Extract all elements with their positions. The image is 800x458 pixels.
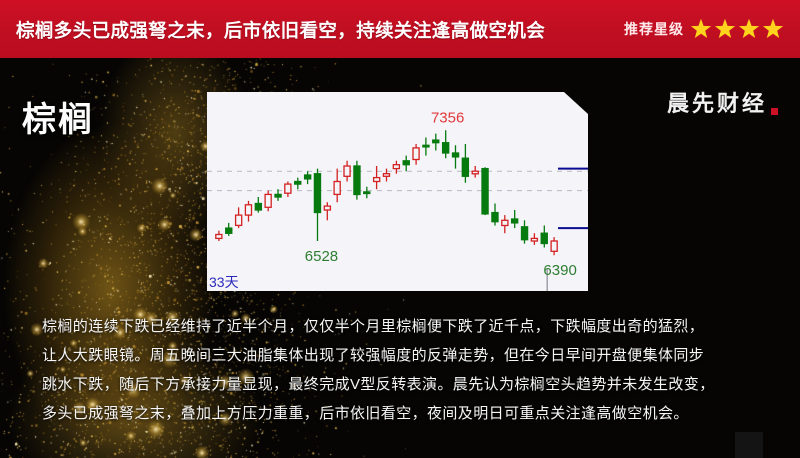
candlestick	[295, 178, 301, 190]
candlestick	[512, 210, 518, 228]
candlestick-chart: 73566528639033天	[207, 92, 588, 291]
candlestick	[433, 134, 439, 151]
analysis-line: 棕榈的连续下跌已经维持了近半个月，仅仅半个月里棕榈便下跌了近千点，下跌幅度出奇的…	[42, 316, 768, 337]
candlestick	[393, 161, 399, 174]
chart-annotation: 6528	[305, 248, 338, 265]
star-rating	[690, 18, 784, 40]
chart-annotation: 33天	[209, 274, 239, 290]
star-icon	[714, 18, 736, 40]
candlestick	[255, 197, 261, 213]
rating-label: 推荐星级	[624, 19, 684, 39]
candlestick	[423, 138, 429, 156]
brand-logo: 晨先财经	[667, 86, 778, 118]
chart-annotation: 6390	[543, 262, 576, 279]
brand-dot-icon	[771, 108, 778, 115]
candlestick	[364, 187, 370, 199]
candlestick	[305, 171, 311, 184]
candlestick	[344, 161, 350, 182]
star-icon	[690, 18, 712, 40]
candlestick	[443, 130, 449, 158]
candlestick	[226, 223, 232, 236]
candlestick	[324, 202, 330, 220]
analysis-line: 让人大跌眼镜。周五晚间三大油脂集体出现了较强幅度的反弹走势，但在今日早间开盘便集…	[42, 345, 768, 366]
poster-canvas: 棕榈多头已成强弩之末，后市依旧看空，持续关注逢高做空机会 推荐星级 棕榈 晨先财…	[0, 0, 800, 458]
product-name: 棕榈	[22, 92, 94, 141]
candlestick	[472, 166, 478, 178]
candlestick	[453, 145, 459, 168]
candlestick	[413, 144, 419, 165]
rating-group: 推荐星级	[624, 18, 784, 40]
candlestick	[502, 215, 508, 233]
analysis-text: 棕榈的连续下跌已经维持了近半个月，仅仅半个月里棕榈便下跌了近千点，下跌幅度出奇的…	[42, 316, 768, 432]
candlestick	[403, 156, 409, 172]
candlestick	[245, 201, 251, 222]
analysis-line: 多头已成强弩之末，叠加上方压力重重，后市依旧看空，夜间及明日可重点关注逢高做空机…	[42, 403, 768, 424]
header-bar: 棕榈多头已成强弩之末，后市依旧看空，持续关注逢高做空机会 推荐星级	[0, 0, 800, 58]
candlestick	[236, 207, 242, 228]
candlestick	[551, 237, 557, 255]
candlestick	[541, 226, 547, 248]
candlestick	[374, 166, 380, 189]
brand-name: 晨先财经	[667, 86, 767, 118]
candlestick	[216, 231, 222, 241]
candlestick	[354, 161, 360, 200]
candlestick	[383, 169, 389, 182]
chart-annotation: 7356	[431, 109, 464, 126]
candlestick	[462, 144, 468, 183]
footer-accent-block	[735, 432, 763, 458]
candlestick	[265, 191, 271, 212]
candlestick-chart-panel[interactable]: 73566528639033天	[207, 92, 588, 291]
candlestick	[492, 204, 498, 226]
star-icon	[762, 18, 784, 40]
candlestick	[314, 169, 320, 241]
candlestick	[482, 167, 488, 215]
candlestick	[531, 233, 537, 245]
analysis-line: 跳水下跌，随后下方承接力量显现，最终完成V型反转表演。晨先认为棕榈空头趋势并未发…	[42, 374, 768, 395]
page-title: 棕榈多头已成强弩之末，后市依旧看空，持续关注逢高做空机会	[16, 17, 545, 43]
candlestick	[285, 182, 291, 198]
candlestick	[334, 169, 340, 203]
candlestick	[522, 220, 528, 243]
star-icon	[738, 18, 760, 40]
